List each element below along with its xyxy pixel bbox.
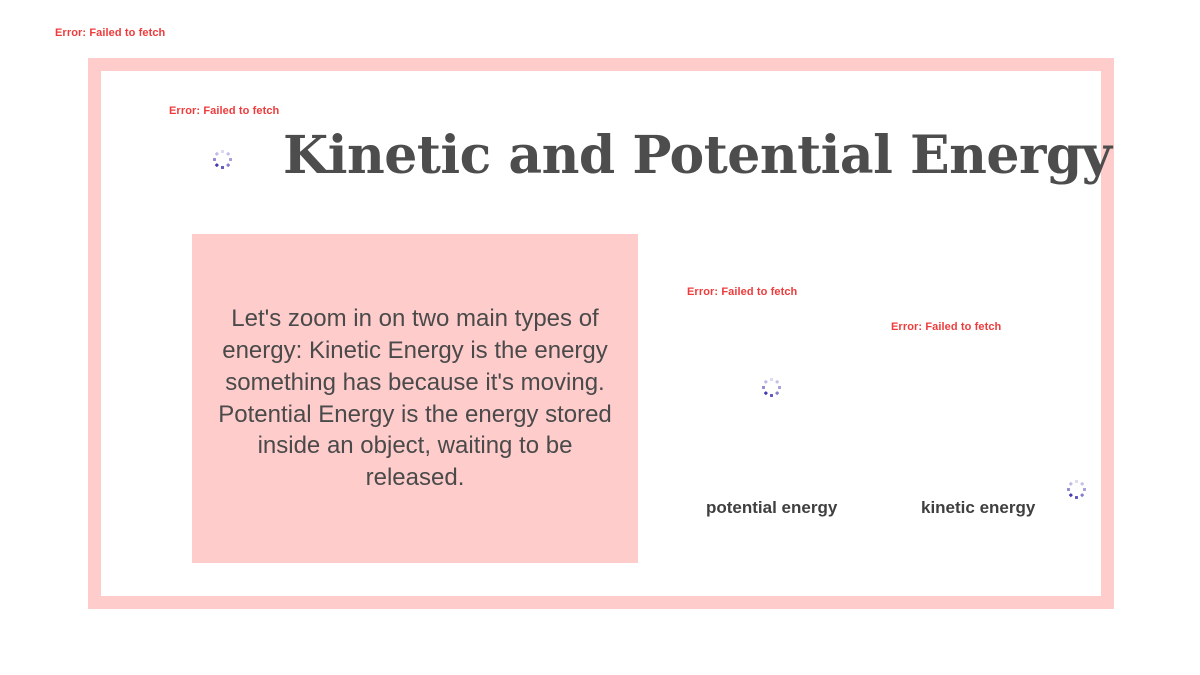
explanation-text: Let's zoom in on two main types of energ… <box>214 303 616 493</box>
explanation-box: Let's zoom in on two main types of energ… <box>192 234 638 563</box>
slide-frame: Error: Failed to fetch Kinetic and Poten… <box>88 58 1114 609</box>
slide-error-message: Error: Failed to fetch <box>169 105 279 118</box>
loading-spinner-icon <box>1066 479 1086 499</box>
screen-root: Error: Failed to fetch Error: Failed to … <box>0 0 1200 675</box>
loading-spinner-icon <box>212 149 232 169</box>
label-kinetic-energy: kinetic energy <box>921 498 1035 518</box>
illustration-error-middle: Error: Failed to fetch <box>687 286 797 299</box>
slide-canvas: Error: Failed to fetch Kinetic and Poten… <box>101 71 1101 596</box>
page-error-message: Error: Failed to fetch <box>55 27 165 40</box>
label-potential-energy: potential energy <box>706 498 837 518</box>
illustration-error-right: Error: Failed to fetch <box>891 321 1001 334</box>
slide-title: Kinetic and Potential Energy <box>283 129 963 184</box>
loading-spinner-icon <box>761 377 781 397</box>
